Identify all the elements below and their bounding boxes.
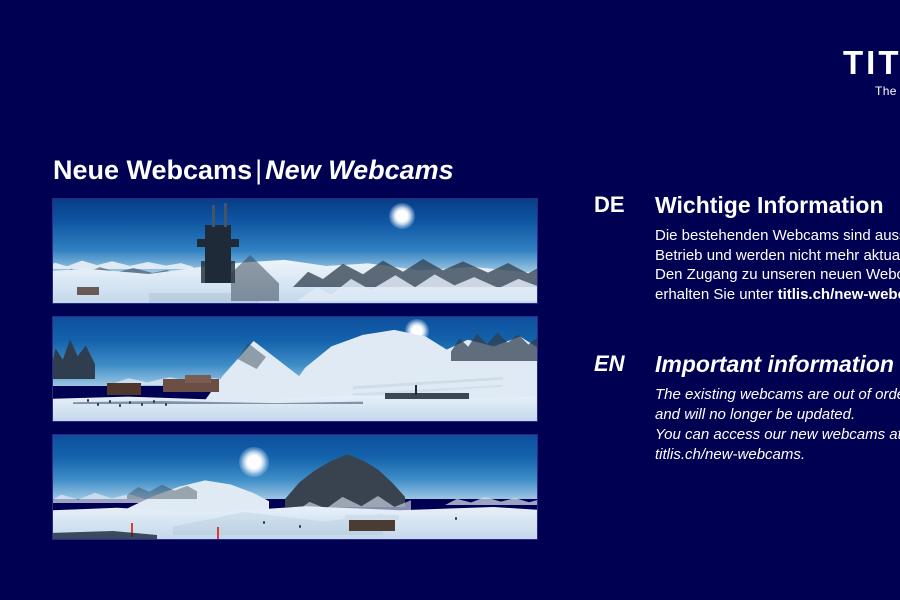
webcam-url-de[interactable]: titlis.ch/new-webcams. <box>778 286 900 303</box>
skier <box>263 521 265 524</box>
info-body-de: Wichtige Information Die bestehenden Web… <box>655 192 900 305</box>
mountain-restaurant <box>107 383 141 395</box>
skier <box>87 399 89 402</box>
skier <box>119 404 121 407</box>
lift-pylon <box>415 385 417 395</box>
info-line: The existing webcams are out of order <box>655 385 900 405</box>
info-line: Betrieb und werden nicht mehr aktualisie… <box>655 246 900 266</box>
info-url-line: titlis.ch/new-webcams. <box>655 445 900 465</box>
webcam-scene-3 <box>53 435 537 539</box>
info-line: You can access our new webcams at <box>655 425 900 445</box>
slope-shadow <box>149 293 259 303</box>
info-body-en: Important information The existing webca… <box>655 351 900 464</box>
station-deck <box>197 239 239 247</box>
information-panel: DE Wichtige Information Die bestehenden … <box>594 192 900 465</box>
sun-icon <box>239 447 269 477</box>
logo-tagline: The <box>875 84 900 98</box>
skier <box>299 525 301 528</box>
info-url-prefix: erhalten Sie unter <box>655 286 778 303</box>
info-line: Die bestehenden Webcams sind ausser <box>655 226 900 246</box>
webcam-gallery <box>53 199 537 539</box>
info-heading-en: Important information <box>655 351 900 379</box>
logo-wordmark: TITLIS <box>843 46 900 79</box>
page-title-separator: | <box>252 155 265 185</box>
info-line: Den Zugang zu unseren neuen Webcams <box>655 265 900 285</box>
lift-structure <box>385 393 469 399</box>
webcam-url-en[interactable]: titlis.ch/new-webcams. <box>655 446 805 463</box>
page-title-en: New Webcams <box>265 155 454 185</box>
base-building <box>77 287 99 295</box>
chalet-roof <box>345 515 399 520</box>
webcam-scene-2 <box>53 317 537 421</box>
info-heading-de: Wichtige Information <box>655 192 900 220</box>
sun-icon <box>389 203 415 229</box>
antenna-mast-left <box>212 205 215 227</box>
info-paragraph-de: Die bestehenden Webcams sind ausser Betr… <box>655 226 900 306</box>
info-line: and will no longer be updated. <box>655 405 900 425</box>
skier <box>153 400 155 403</box>
antenna-mast-right <box>224 203 227 227</box>
language-label-en: EN <box>594 351 650 377</box>
info-url-line: erhalten Sie unter titlis.ch/new-webcams… <box>655 285 900 305</box>
page-title-de: Neue Webcams <box>53 155 252 185</box>
language-label-de: DE <box>594 192 650 218</box>
slide-canvas: TITLIS The Neue Webcams|New Webcams <box>0 0 900 600</box>
skier <box>129 401 131 404</box>
webcam-image-3[interactable] <box>53 435 537 539</box>
page-title: Neue Webcams|New Webcams <box>53 155 454 186</box>
webcam-image-1[interactable] <box>53 199 537 303</box>
station-building-2 <box>185 375 211 383</box>
station-base <box>201 261 235 283</box>
skier <box>109 400 111 403</box>
info-block-de: DE Wichtige Information Die bestehenden … <box>594 192 900 305</box>
skier <box>165 403 167 406</box>
skier <box>141 403 143 406</box>
webcam-image-2[interactable] <box>53 317 537 421</box>
webcam-scene-1 <box>53 199 537 303</box>
titlis-logo: TITLIS The <box>843 46 900 98</box>
skier <box>455 517 457 520</box>
skier <box>97 403 99 406</box>
info-paragraph-en: The existing webcams are out of order an… <box>655 385 900 465</box>
chalet <box>349 519 395 531</box>
slope-marker <box>217 527 219 539</box>
info-block-en: EN Important information The existing we… <box>594 351 900 464</box>
